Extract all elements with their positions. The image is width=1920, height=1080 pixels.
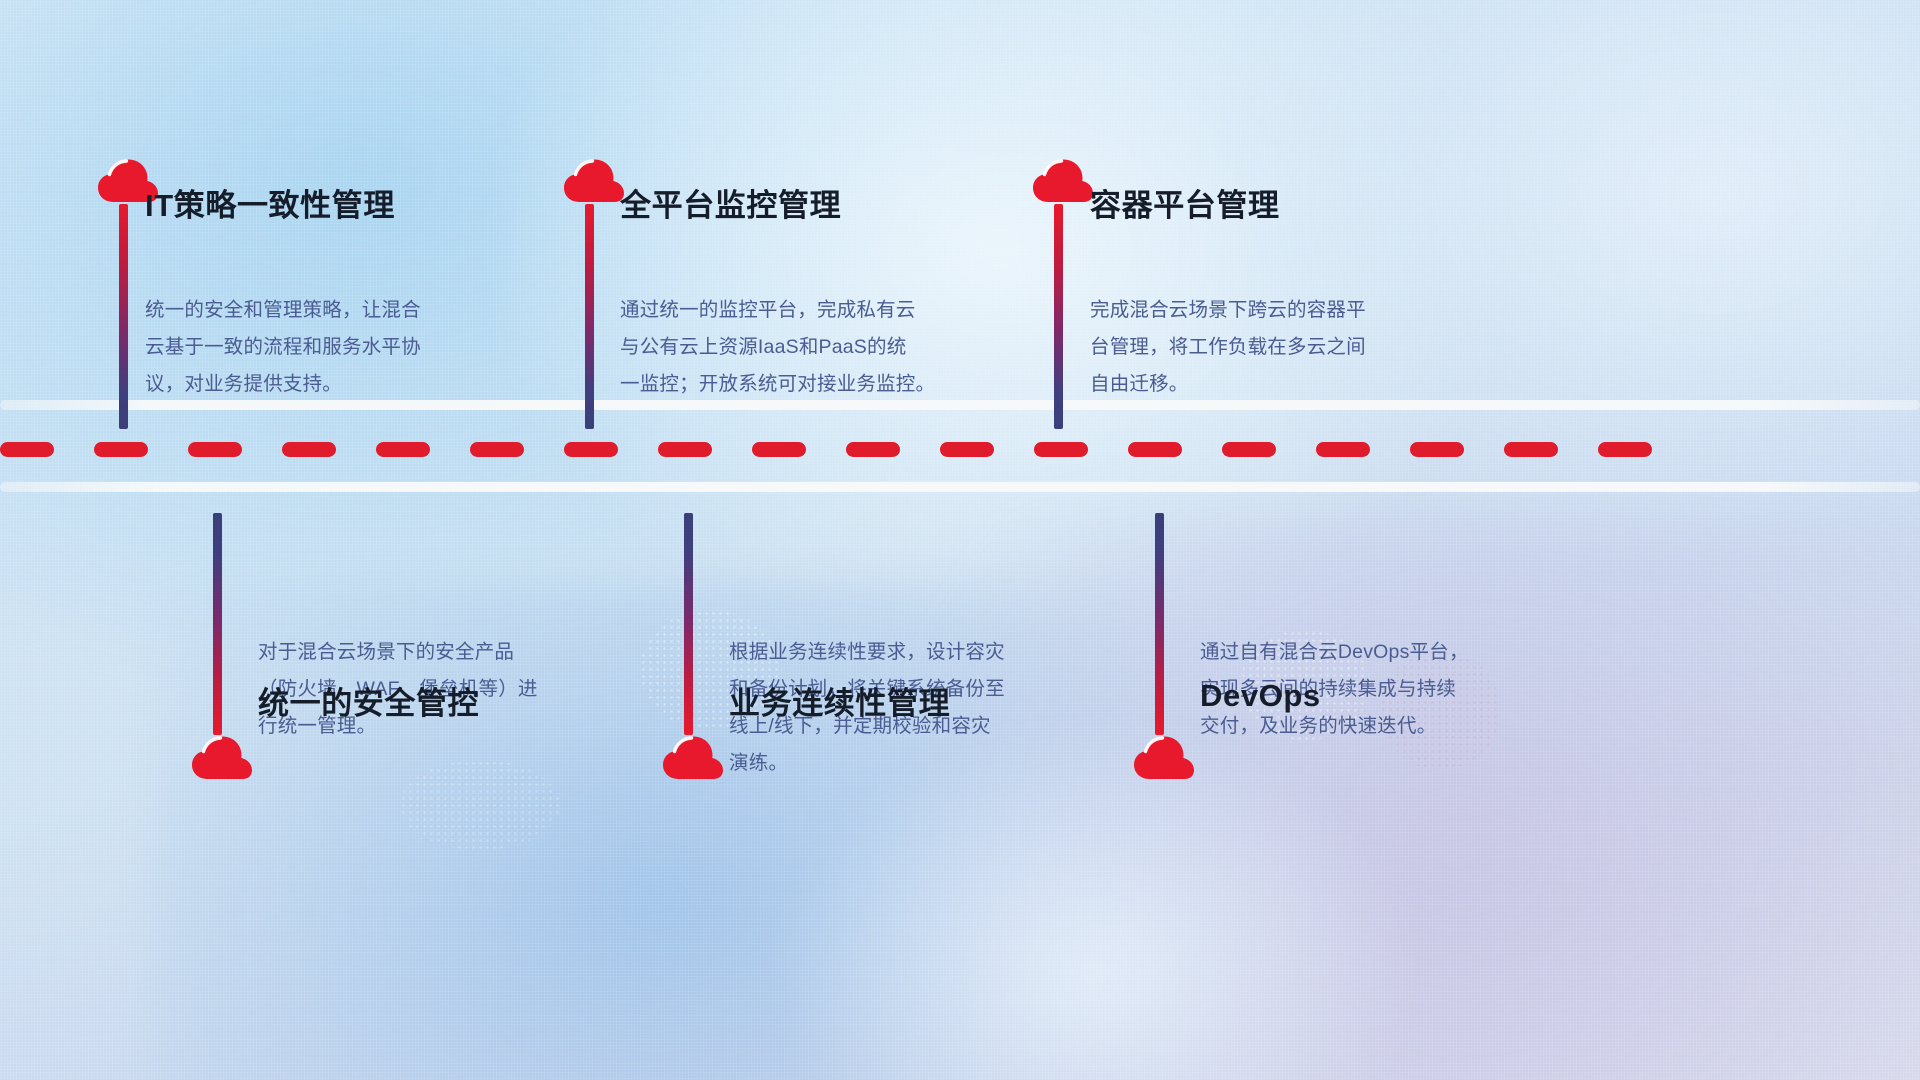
heading-full-platform-monitoring: 全平台监控管理 (620, 180, 841, 225)
heading-it-policy-consistency: IT策略一致性管理 (145, 180, 395, 225)
cloud-pin-unified-security-control (191, 513, 261, 781)
infographic-canvas: IT策略一致性管理 统一的安全和管理策略，让混合 云基于一致的流程和服务水平协 … (0, 0, 1920, 1080)
body-line: 统一的安全和管理策略，让混合 (145, 292, 505, 329)
body-it-policy-consistency: 统一的安全和管理策略，让混合 云基于一致的流程和服务水平协 议，对业务提供支持。 (145, 292, 505, 403)
background-texture (0, 0, 1920, 1080)
road-edge-bottom-line (0, 482, 1920, 492)
body-line: 完成混合云场景下跨云的容器平 (1090, 292, 1460, 329)
road-dash (1504, 442, 1558, 457)
road-dash (846, 442, 900, 457)
cloud-icon (662, 735, 724, 781)
cloud-icon (1032, 158, 1094, 204)
body-line: 对于混合云场景下的安全产品 (258, 634, 618, 671)
road-dash (1034, 442, 1088, 457)
body-line: 云基于一致的流程和服务水平协 (145, 329, 505, 366)
body-line: 议，对业务提供支持。 (145, 366, 505, 403)
background-speckle (400, 760, 560, 850)
body-line: 台管理，将工作负载在多云之间 (1090, 329, 1460, 366)
body-line: 一监控；开放系统可对接业务监控。 (620, 366, 1010, 403)
road-dash (1410, 442, 1464, 457)
road-dash (1222, 442, 1276, 457)
road-dash (658, 442, 712, 457)
heading-container-platform: 容器平台管理 (1090, 180, 1280, 225)
road-dash (94, 442, 148, 457)
road-dash (470, 442, 524, 457)
heading-unified-security-control: 统一的安全管控 (258, 678, 479, 723)
road-dash (0, 442, 54, 457)
cloud-pin-devops (1133, 513, 1203, 781)
road-dash (940, 442, 994, 457)
heading-devops: DevOps (1200, 678, 1321, 714)
body-line: 演练。 (729, 745, 1099, 782)
pin-stem (1155, 513, 1164, 735)
body-line: 通过统一的监控平台，完成私有云 (620, 292, 1010, 329)
cloud-icon (191, 735, 253, 781)
pin-stem (213, 513, 222, 735)
road-dash (1598, 442, 1652, 457)
pin-stem (684, 513, 693, 735)
heading-business-continuity: 业务连续性管理 (729, 678, 950, 723)
road-center-dashed-line (0, 441, 1920, 457)
pin-stem (585, 204, 594, 429)
cloud-pin-business-continuity (662, 513, 732, 781)
body-line: 根据业务连续性要求，设计容灾 (729, 634, 1099, 671)
cloud-icon (563, 158, 625, 204)
road-dash (752, 442, 806, 457)
body-container-platform: 完成混合云场景下跨云的容器平 台管理，将工作负载在多云之间 自由迁移。 (1090, 292, 1460, 403)
body-full-platform-monitoring: 通过统一的监控平台，完成私有云 与公有云上资源IaaS和PaaS的统 一监控；开… (620, 292, 1010, 403)
body-line: 通过自有混合云DevOps平台， (1200, 634, 1560, 671)
body-line: 自由迁移。 (1090, 366, 1460, 403)
road-dash (1316, 442, 1370, 457)
road-dash (282, 442, 336, 457)
pin-stem (1054, 204, 1063, 429)
body-line: 与公有云上资源IaaS和PaaS的统 (620, 329, 1010, 366)
road-dash (1128, 442, 1182, 457)
road-dash (564, 442, 618, 457)
road-dash (376, 442, 430, 457)
pin-stem (119, 204, 128, 429)
road-dash (188, 442, 242, 457)
cloud-icon (1133, 735, 1195, 781)
